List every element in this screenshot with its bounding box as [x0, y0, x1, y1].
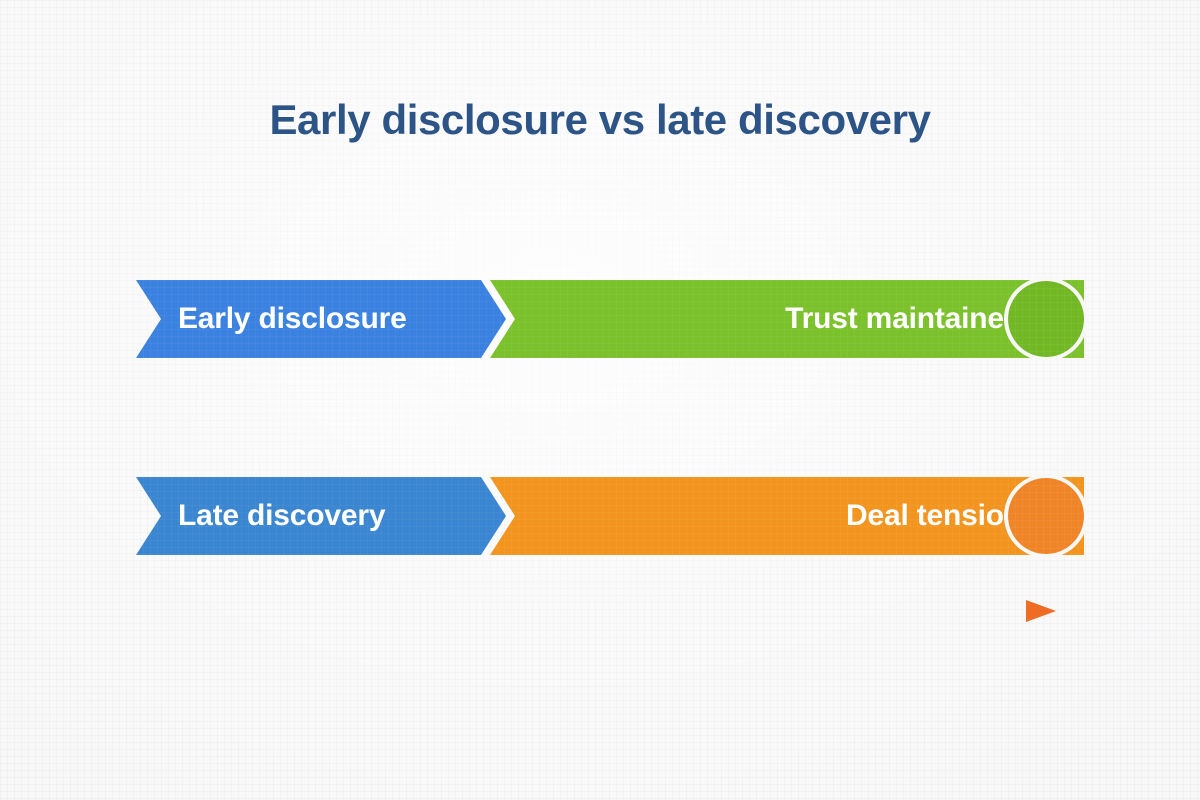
circle-endcap-icon-deal-tension — [1008, 478, 1084, 554]
arrowhead-icon — [1026, 600, 1056, 622]
outcome-bar-deal-tension[interactable]: Deal tension — [490, 477, 1084, 555]
stage-chevron-early-disclosure[interactable]: Early disclosure — [136, 280, 506, 358]
timeline-progression-arrow — [140, 596, 1070, 626]
outcome-label-deal-tension: Deal tension — [846, 499, 1022, 533]
stage-label-early-disclosure: Early disclosure — [178, 302, 407, 336]
flow-row-late-discovery: Late discovery Deal tension — [136, 477, 1084, 555]
stage-chevron-late-discovery[interactable]: Late discovery — [136, 477, 506, 555]
outcome-label-trust-maintained: Trust maintained — [785, 302, 1022, 336]
slide-canvas: Early disclosure vs late discovery Early… — [0, 0, 1200, 800]
outcome-bar-trust-maintained[interactable]: Trust maintained — [490, 280, 1084, 358]
flow-row-early-disclosure: Early disclosure Trust maintained — [136, 280, 1084, 358]
page-title: Early disclosure vs late discovery — [0, 96, 1200, 144]
stage-label-late-discovery: Late discovery — [178, 499, 385, 533]
circle-endcap-icon-trust-maintained — [1008, 281, 1084, 357]
